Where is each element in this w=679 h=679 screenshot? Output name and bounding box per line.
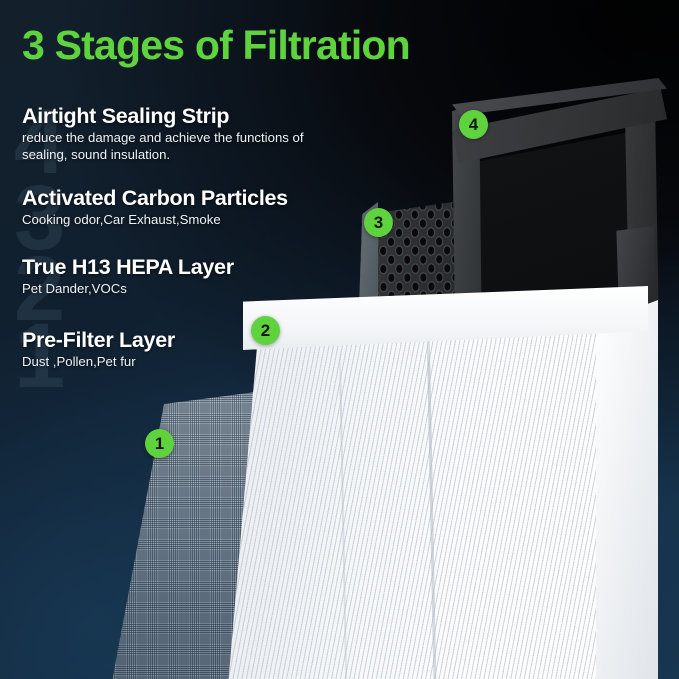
stage-subtitle-activated-carbon: Cooking odor,Car Exhaust,Smoke bbox=[22, 212, 288, 229]
page-title: 3 Stages of Filtration bbox=[22, 25, 410, 66]
stage-block-pre-filter: Pre-Filter Layer Dust ,Pollen,Pet fur bbox=[22, 328, 175, 371]
hepa-side-face bbox=[596, 300, 658, 679]
callout-badge-1: 1 bbox=[145, 429, 174, 458]
stage-block-activated-carbon: Activated Carbon Particles Cooking odor,… bbox=[22, 186, 288, 229]
stage-title-hepa: True H13 HEPA Layer bbox=[22, 255, 234, 279]
callout-badge-3: 3 bbox=[364, 208, 393, 237]
product-infographic: 4 3 2 1 3 Stages of Filtration Airtight … bbox=[0, 0, 679, 679]
stage-block-hepa: True H13 HEPA Layer Pet Dander,VOCs bbox=[22, 255, 234, 298]
stage-title-activated-carbon: Activated Carbon Particles bbox=[22, 186, 288, 210]
callout-badge-4: 4 bbox=[459, 110, 488, 139]
callout-badge-2: 2 bbox=[251, 316, 280, 345]
stage-subtitle-hepa: Pet Dander,VOCs bbox=[22, 281, 234, 298]
stage-subtitle-sealing-strip: reduce the damage and achieve the functi… bbox=[22, 130, 312, 164]
stage-title-pre-filter: Pre-Filter Layer bbox=[22, 328, 175, 352]
stage-subtitle-pre-filter: Dust ,Pollen,Pet fur bbox=[22, 354, 175, 371]
stage-block-sealing-strip: Airtight Sealing Strip reduce the damage… bbox=[22, 104, 312, 164]
stage-title-sealing-strip: Airtight Sealing Strip bbox=[22, 104, 312, 128]
